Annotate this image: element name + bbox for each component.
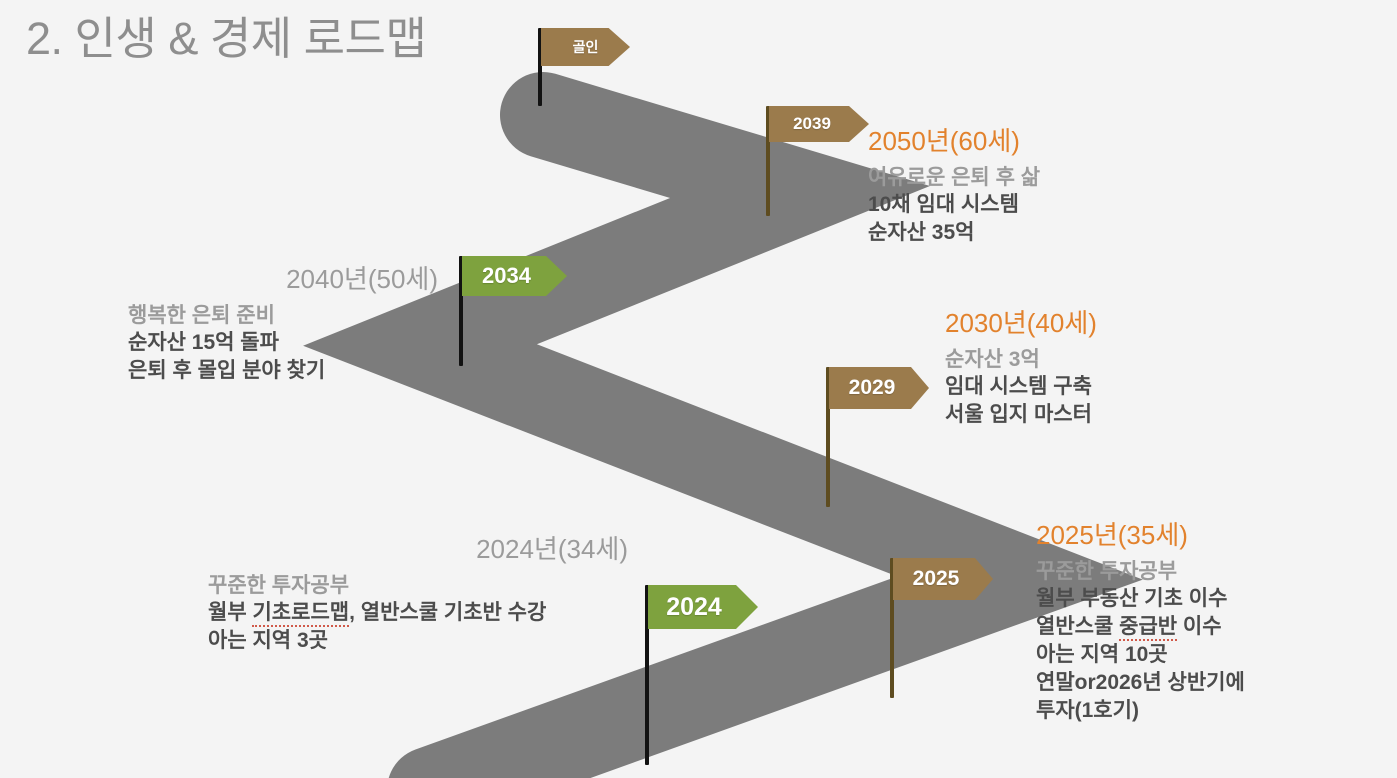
page-title: 2. 인생 & 경제 로드맵 bbox=[26, 14, 426, 64]
milestone-2025-line-3: 열반스쿨 중급반 이수 bbox=[1036, 613, 1245, 641]
flag-2025[interactable]: 2025 bbox=[890, 558, 995, 600]
flag-label-2034: 2034 bbox=[482, 263, 531, 289]
milestone-2025-line-4: 아는 지역 10곳 bbox=[1036, 641, 1245, 669]
flag-label-goal: 골인 bbox=[573, 37, 599, 57]
milestone-2025: 2025년(35세) 꾸준한 투자공부 월부 부동산 기초 이수 열반스쿨 중급… bbox=[1036, 519, 1245, 725]
flag-label-2029: 2029 bbox=[849, 376, 896, 400]
milestone-2024: 2024년(34세) 꾸준한 투자공부 월부 기초로드맵, 열반스쿨 기초반 수… bbox=[208, 533, 628, 655]
milestone-2025-line-1: 꾸준한 투자공부 bbox=[1036, 558, 1245, 586]
milestone-2030-line-3: 서울 입지 마스터 bbox=[945, 401, 1097, 429]
flag-banner-2039: 2039 bbox=[769, 106, 869, 142]
milestone-2025-line-2: 월부 부동산 기초 이수 bbox=[1036, 585, 1245, 613]
roadmap-slide: 2. 인생 & 경제 로드맵 골인 2039 2034 2029 2025 bbox=[0, 0, 1397, 778]
flag-2024[interactable]: 2024 bbox=[645, 585, 760, 629]
flag-2029[interactable]: 2029 bbox=[826, 367, 931, 409]
milestone-2030-line-2: 임대 시스템 구축 bbox=[945, 373, 1097, 401]
milestone-2024-line-2: 월부 기초로드맵, 열반스쿨 기초반 수강 bbox=[208, 599, 628, 627]
milestone-2040-line-3: 은퇴 후 몰입 분야 찾기 bbox=[128, 357, 438, 385]
milestone-2025-line-6: 투자(1호기) bbox=[1036, 697, 1245, 725]
flag-banner-2025: 2025 bbox=[893, 558, 993, 600]
milestone-2024-line-3: 아는 지역 3곳 bbox=[208, 627, 628, 655]
flag-2034[interactable]: 2034 bbox=[459, 256, 569, 296]
milestone-2030-line-1: 순자산 3억 bbox=[945, 346, 1097, 374]
flag-label-2025: 2025 bbox=[913, 567, 960, 591]
flag-banner-2034: 2034 bbox=[462, 256, 567, 296]
milestone-2050-line-3: 순자산 35억 bbox=[868, 219, 1040, 247]
flag-label-2039: 2039 bbox=[793, 114, 831, 134]
flag-label-2024: 2024 bbox=[666, 593, 722, 622]
flag-banner-2029: 2029 bbox=[829, 367, 929, 409]
milestone-2024-heading: 2024년(34세) bbox=[208, 533, 628, 566]
flag-goal[interactable]: 골인 bbox=[538, 28, 630, 66]
milestone-2040-line-1: 행복한 은퇴 준비 bbox=[128, 302, 438, 330]
flag-banner-goal: 골인 bbox=[541, 28, 630, 66]
milestone-2025-heading: 2025년(35세) bbox=[1036, 519, 1245, 552]
milestone-2025-line-5: 연말or2026년 상반기에 bbox=[1036, 669, 1245, 697]
milestone-2050-line-1: 여유로운 은퇴 후 삶 bbox=[868, 164, 1040, 192]
flag-2039[interactable]: 2039 bbox=[766, 106, 871, 142]
milestone-2040-line-2: 순자산 15억 돌파 bbox=[128, 329, 438, 357]
flag-banner-2024: 2024 bbox=[648, 585, 758, 629]
spellcheck-underline: 기초로드맵 bbox=[252, 601, 349, 627]
milestone-2050: 2050년(60세) 여유로운 은퇴 후 삶 10채 임대 시스템 순자산 35… bbox=[868, 125, 1040, 247]
milestone-2030: 2030년(40세) 순자산 3억 임대 시스템 구축 서울 입지 마스터 bbox=[945, 307, 1097, 429]
spellcheck-underline: 중급반 bbox=[1119, 615, 1177, 641]
milestone-2050-line-2: 10채 임대 시스템 bbox=[868, 191, 1040, 219]
milestone-2050-heading: 2050년(60세) bbox=[868, 125, 1040, 158]
milestone-2024-line-1: 꾸준한 투자공부 bbox=[208, 572, 628, 600]
milestone-2040: 2040년(50세) 행복한 은퇴 준비 순자산 15억 돌파 은퇴 후 몰입 … bbox=[128, 263, 438, 385]
milestone-2030-heading: 2030년(40세) bbox=[945, 307, 1097, 340]
milestone-2040-heading: 2040년(50세) bbox=[128, 263, 438, 296]
